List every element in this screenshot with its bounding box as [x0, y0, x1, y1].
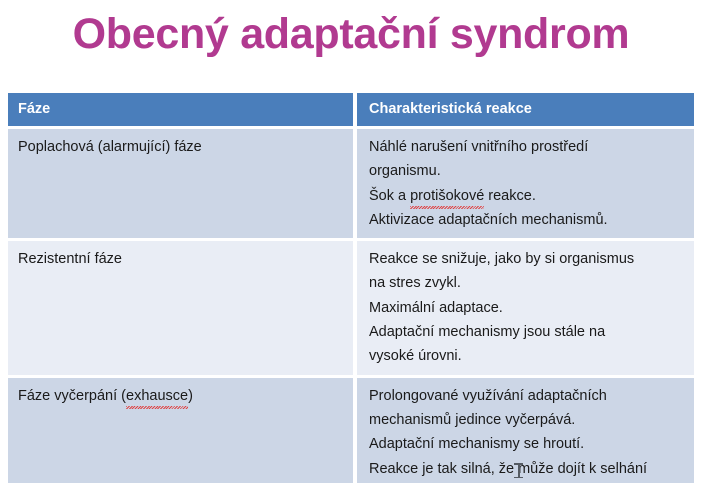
- table-header: Fáze Charakteristická reakce: [8, 93, 694, 129]
- reaction-line: Prolongované využívání adaptačních: [369, 384, 686, 408]
- reaction-line: Šok a protišokové reakce.: [369, 184, 686, 208]
- column-header-phase: Fáze: [8, 93, 353, 129]
- reaction-line: Reakce se snižuje, jako by si organismus: [369, 247, 686, 271]
- misspelled-word: exhausce: [126, 384, 188, 408]
- reaction-line: organismu.: [369, 159, 686, 183]
- reaction-line: mechanismů jedince vyčerpává.: [369, 408, 686, 432]
- phase-text-after: ): [188, 388, 193, 404]
- phase-label-3: Fáze vyčerpání (exhausce): [18, 384, 345, 408]
- phase-label-1: Poplachová (alarmující) fáze: [18, 135, 345, 159]
- reaction-line: Adaptační mechanismy se hroutí.: [369, 432, 686, 456]
- gas-phases-table: Fáze Charakteristická reakce Poplachová …: [8, 93, 694, 483]
- text-cursor-icon: [514, 463, 523, 478]
- reaction-line: na stres zvykl.: [369, 271, 686, 295]
- table-row: Fáze vyčerpání (exhausce) Prolongované v…: [8, 378, 694, 483]
- presentation-slide: Obecný adaptační syndrom Fáze Charakteri…: [0, 0, 702, 483]
- cell-phase-1: Poplachová (alarmující) fáze: [8, 129, 353, 241]
- misspelled-word: protišokové: [410, 184, 484, 208]
- reaction-text-before: Šok a: [369, 188, 410, 204]
- gas-phases-table-wrapper: Fáze Charakteristická reakce Poplachová …: [8, 93, 694, 483]
- reaction-text-after: reakce.: [484, 188, 536, 204]
- reaction-line: Náhlé narušení vnitřního prostředí: [369, 135, 686, 159]
- ibeam-cap-bottom: [514, 477, 523, 479]
- cell-phase-3: Fáze vyčerpání (exhausce): [8, 378, 353, 483]
- reaction-line: Maximální adaptace.: [369, 296, 686, 320]
- reaction-line: Reakce je tak silná, že může dojít k sel…: [369, 457, 686, 481]
- reaction-line: Aktivizace adaptačních mechanismů.: [369, 208, 686, 232]
- table-body: Poplachová (alarmující) fáze Náhlé naruš…: [8, 129, 694, 483]
- reaction-line: Adaptační mechanismy jsou stále na: [369, 320, 686, 344]
- page-title: Obecný adaptační syndrom: [0, 6, 702, 62]
- table-row: Poplachová (alarmující) fáze Náhlé naruš…: [8, 129, 694, 241]
- cell-reaction-3: Prolongované využívání adaptačních mecha…: [353, 378, 694, 483]
- cell-phase-2: Rezistentní fáze: [8, 241, 353, 377]
- cell-reaction-2: Reakce se snižuje, jako by si organismus…: [353, 241, 694, 377]
- table-row: Rezistentní fáze Reakce se snižuje, jako…: [8, 241, 694, 377]
- cell-reaction-1: Náhlé narušení vnitřního prostředí organ…: [353, 129, 694, 241]
- phase-text-before: Fáze vyčerpání (: [18, 388, 126, 404]
- column-header-reaction: Charakteristická reakce: [353, 93, 694, 129]
- reaction-line: vysoké úrovni.: [369, 344, 686, 368]
- phase-label-2: Rezistentní fáze: [18, 247, 345, 271]
- table-header-row: Fáze Charakteristická reakce: [8, 93, 694, 129]
